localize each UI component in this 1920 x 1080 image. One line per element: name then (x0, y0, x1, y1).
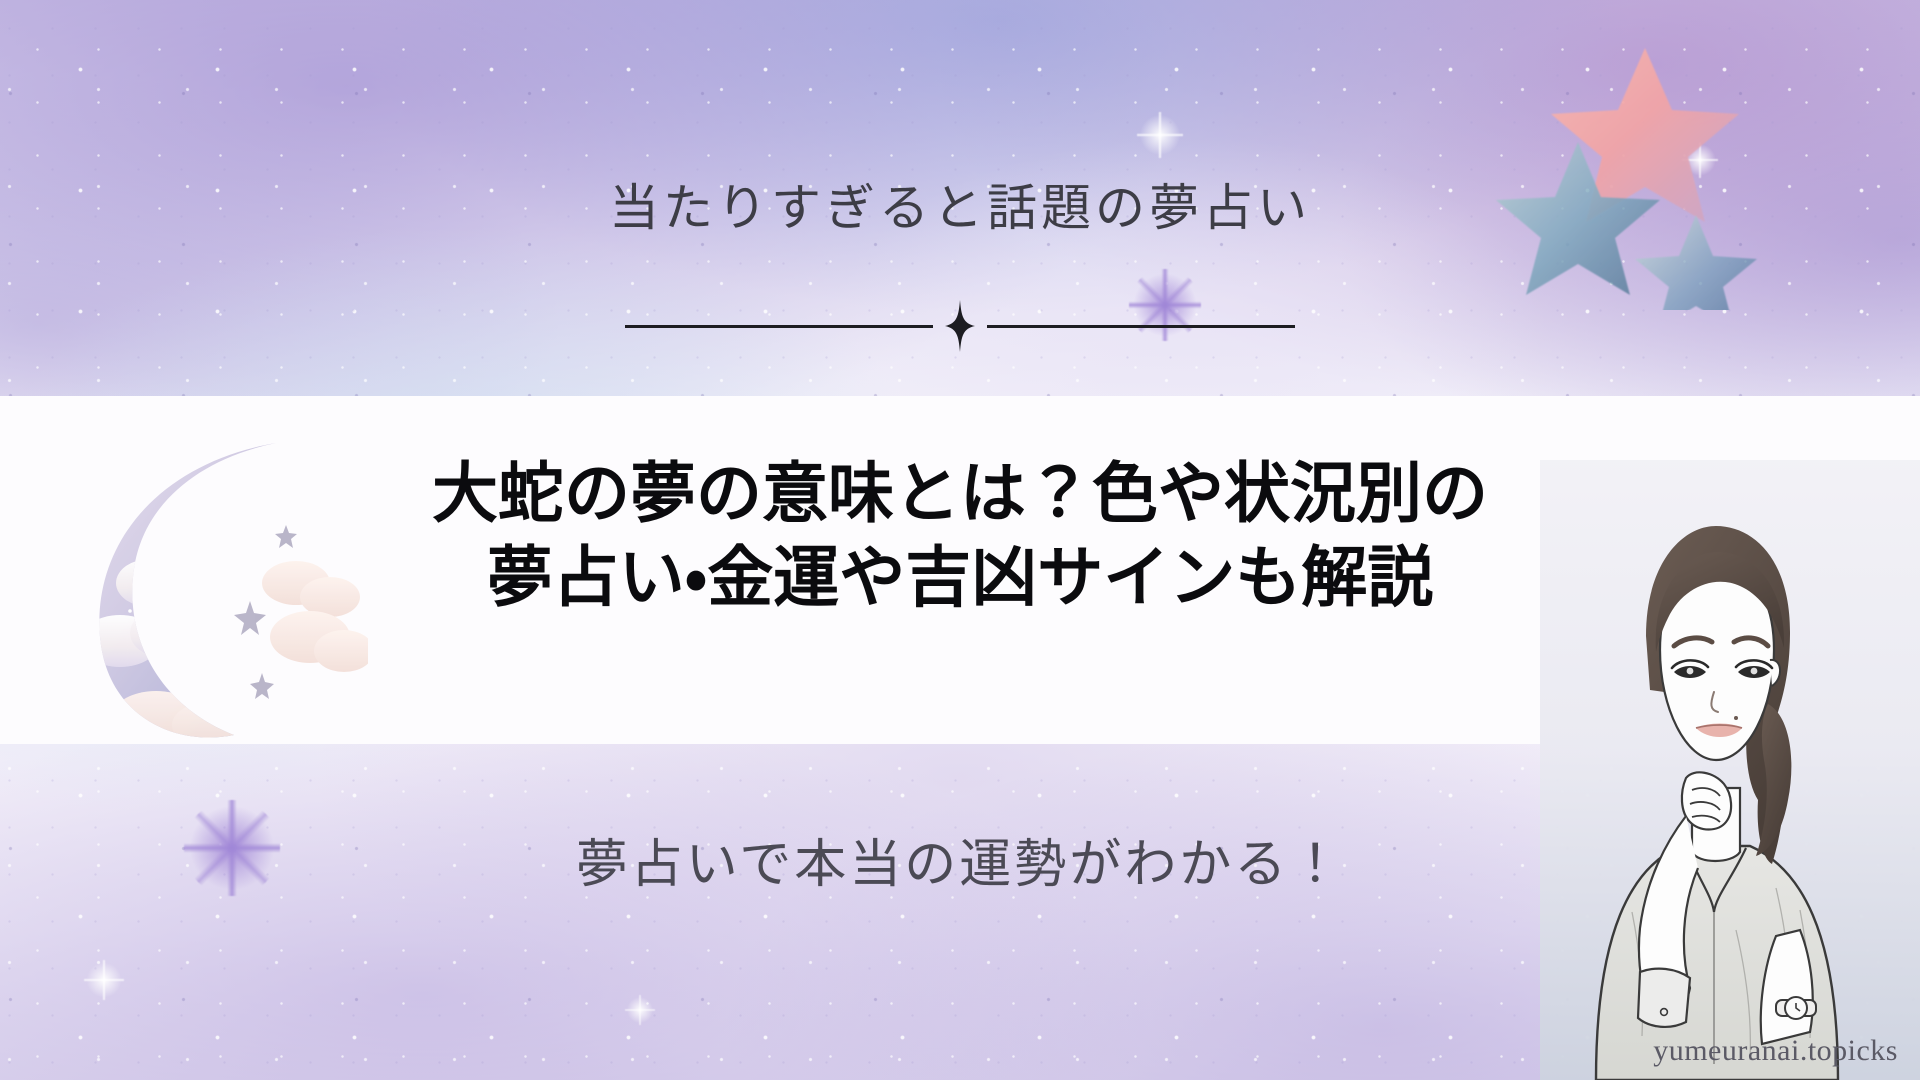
site-watermark: yumeuranai.topicks (1653, 1034, 1898, 1068)
divider-rule-left (625, 325, 933, 328)
page-title: 大蛇の夢の意味とは？色や状況別の 夢占い・金運や吉凶サインも解説 (0, 452, 1920, 621)
page-title-line-2: 夢占い・金運や吉凶サインも解説 (0, 536, 1920, 620)
four-point-sparkle-icon (945, 300, 975, 352)
divider-rule-right (987, 325, 1295, 328)
dream-fortune-banner: 当たりすぎると話題の夢占い 大蛇の夢の意味とは？色や状況別の 夢占い・金運や吉凶… (0, 0, 1920, 1080)
subtitle-text: 夢占いで本当の運勢がわかる！ (0, 822, 1920, 897)
page-title-line-1: 大蛇の夢の意味とは？色や状況別の (0, 452, 1920, 536)
eyebrow-headline: 当たりすぎると話題の夢占い (0, 168, 1920, 240)
divider (625, 300, 1295, 352)
